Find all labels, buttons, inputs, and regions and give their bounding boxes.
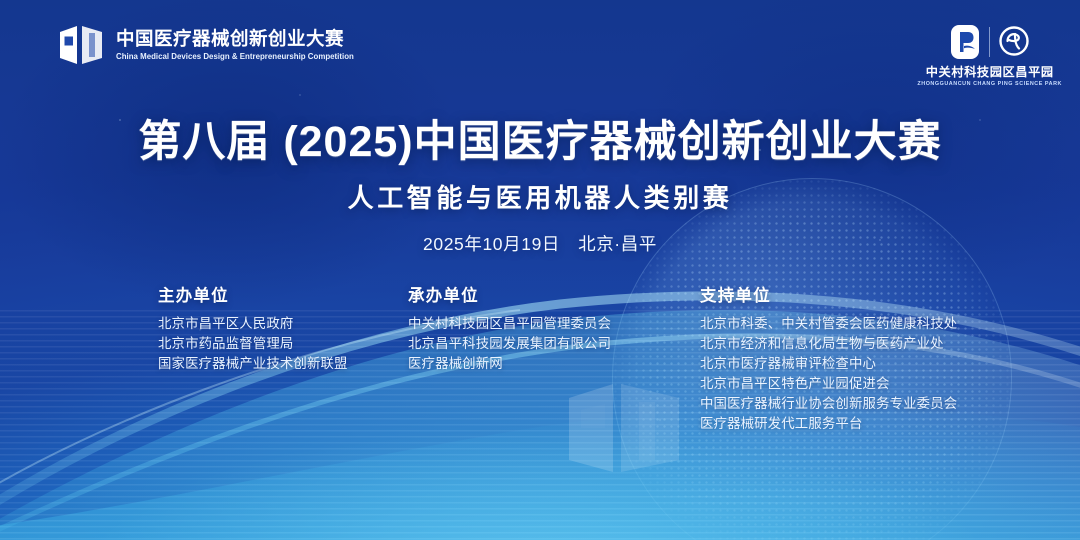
list-item: 中国医疗器械行业协会创新服务专业委员会: [700, 394, 957, 414]
list-item: 北京市昌平区人民政府: [158, 314, 348, 334]
co-organizer-column: 承办单位 中关村科技园区昌平园管理委员会 北京昌平科技园发展集团有限公司 医疗器…: [408, 288, 611, 374]
list-item: 北京市医疗器械审评检查中心: [700, 354, 957, 374]
organizations-section: 主办单位 北京市昌平区人民政府 北京市药品监督管理局 国家医疗器械产业技术创新联…: [0, 288, 1080, 458]
science-park-cn-text: 中关村科技园区昌平园: [926, 66, 1054, 78]
open-door-book-logo-icon: [58, 24, 104, 66]
supporter-heading: 支持单位: [700, 288, 957, 305]
competition-logo-en-text: China Medical Devices Design & Entrepren…: [116, 52, 354, 61]
organizer-heading: 主办单位: [158, 288, 348, 305]
competition-logo-cn-text: 中国医疗器械创新创业大赛: [116, 29, 364, 49]
list-item: 国家医疗器械产业技术创新联盟: [158, 354, 348, 374]
list-item: 北京市药品监督管理局: [158, 334, 348, 354]
list-item: 北京昌平科技园发展集团有限公司: [408, 334, 611, 354]
event-date-location: 2025年10月19日 北京·昌平: [0, 234, 1080, 255]
competition-logo: 中国医疗器械创新创业大赛 China Medical Devices Desig…: [58, 24, 364, 66]
list-item: 北京市科委、中关村管委会医药健康科技处: [700, 314, 957, 334]
zhongguancun-p-badge-icon: [950, 24, 980, 60]
co-organizer-heading: 承办单位: [408, 288, 611, 305]
list-item: 中关村科技园区昌平园管理委员会: [408, 314, 611, 334]
list-item: 医疗器械研发代工服务平台: [700, 414, 957, 434]
science-park-logo: 中关村科技园区昌平园 ZHONGGUANCUN CHANG PING SCIEN…: [917, 22, 1062, 88]
list-item: 北京市经济和信息化局生物与医药产业处: [700, 334, 957, 354]
logo-divider: [989, 27, 990, 57]
supporter-column: 支持单位 北京市科委、中关村管委会医药健康科技处 北京市经济和信息化局生物与医药…: [700, 288, 957, 434]
list-item: 医疗器械创新网: [408, 354, 611, 374]
changping-e-badge-icon: [999, 24, 1029, 60]
science-park-en-text: ZHONGGUANCUN CHANG PING SCIENCE PARK: [917, 82, 1062, 87]
event-banner: 中国医疗器械创新创业大赛 China Medical Devices Desig…: [0, 0, 1080, 540]
organizer-column: 主办单位 北京市昌平区人民政府 北京市药品监督管理局 国家医疗器械产业技术创新联…: [158, 288, 348, 374]
page-subtitle: 人工智能与医用机器人类别赛: [0, 183, 1080, 214]
page-title: 第八届 (2025)中国医疗器械创新创业大赛: [0, 118, 1080, 166]
list-item: 北京市昌平区特色产业园促进会: [700, 374, 957, 394]
science-park-logo-marks: [950, 22, 1029, 62]
